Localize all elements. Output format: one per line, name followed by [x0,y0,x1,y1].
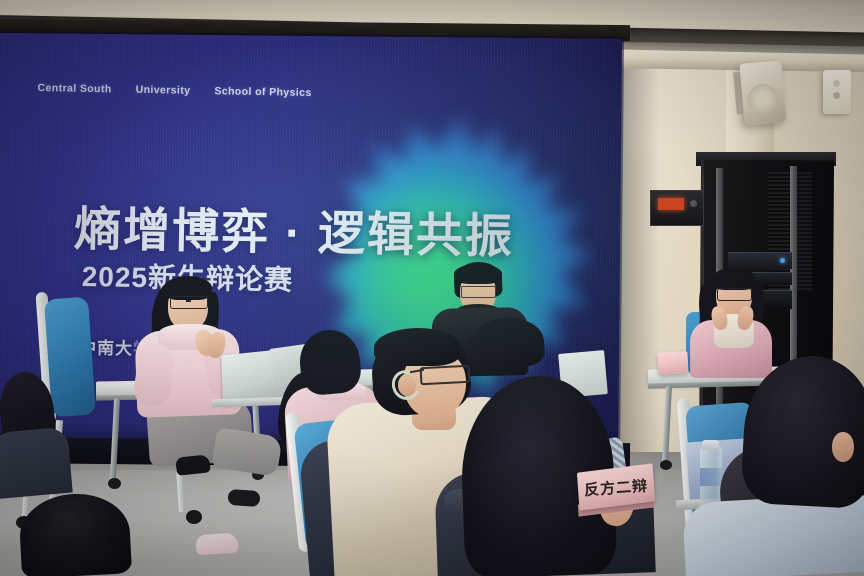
person-left-shoe-2 [195,533,238,556]
person-right-fringe [712,268,756,290]
person-left-shoe-3 [227,489,260,507]
rack-status-led [780,258,785,263]
placard-opposition-second-text: 反方二辩 [583,474,648,499]
person-left-glasses [170,296,208,309]
person-cream-jacket-fringe [374,328,460,366]
amplifier-display [658,198,684,210]
person-left-shoe-1 [175,454,211,475]
person-center-glasses [461,286,496,298]
chair-left-caster-2 [186,510,202,524]
wall-panel-dial-top [833,80,840,87]
photo-scene: Central South University School of Physi… [0,0,864,576]
desk-left-caster-1 [108,478,121,489]
water-bottle-label [700,468,722,486]
person-lightblue-ear [832,432,854,462]
water-bottle-cap [702,440,719,450]
person-cream-jacket-glasses [420,365,471,386]
person-center-fringe [454,264,502,284]
person-right-glasses [717,288,752,301]
desk-right-caster [660,460,672,470]
amplifier-knob [690,200,697,207]
wall-panel-dial-bottom [833,92,840,99]
placard-desk-right [657,351,688,375]
person-far-left-body [0,427,73,500]
